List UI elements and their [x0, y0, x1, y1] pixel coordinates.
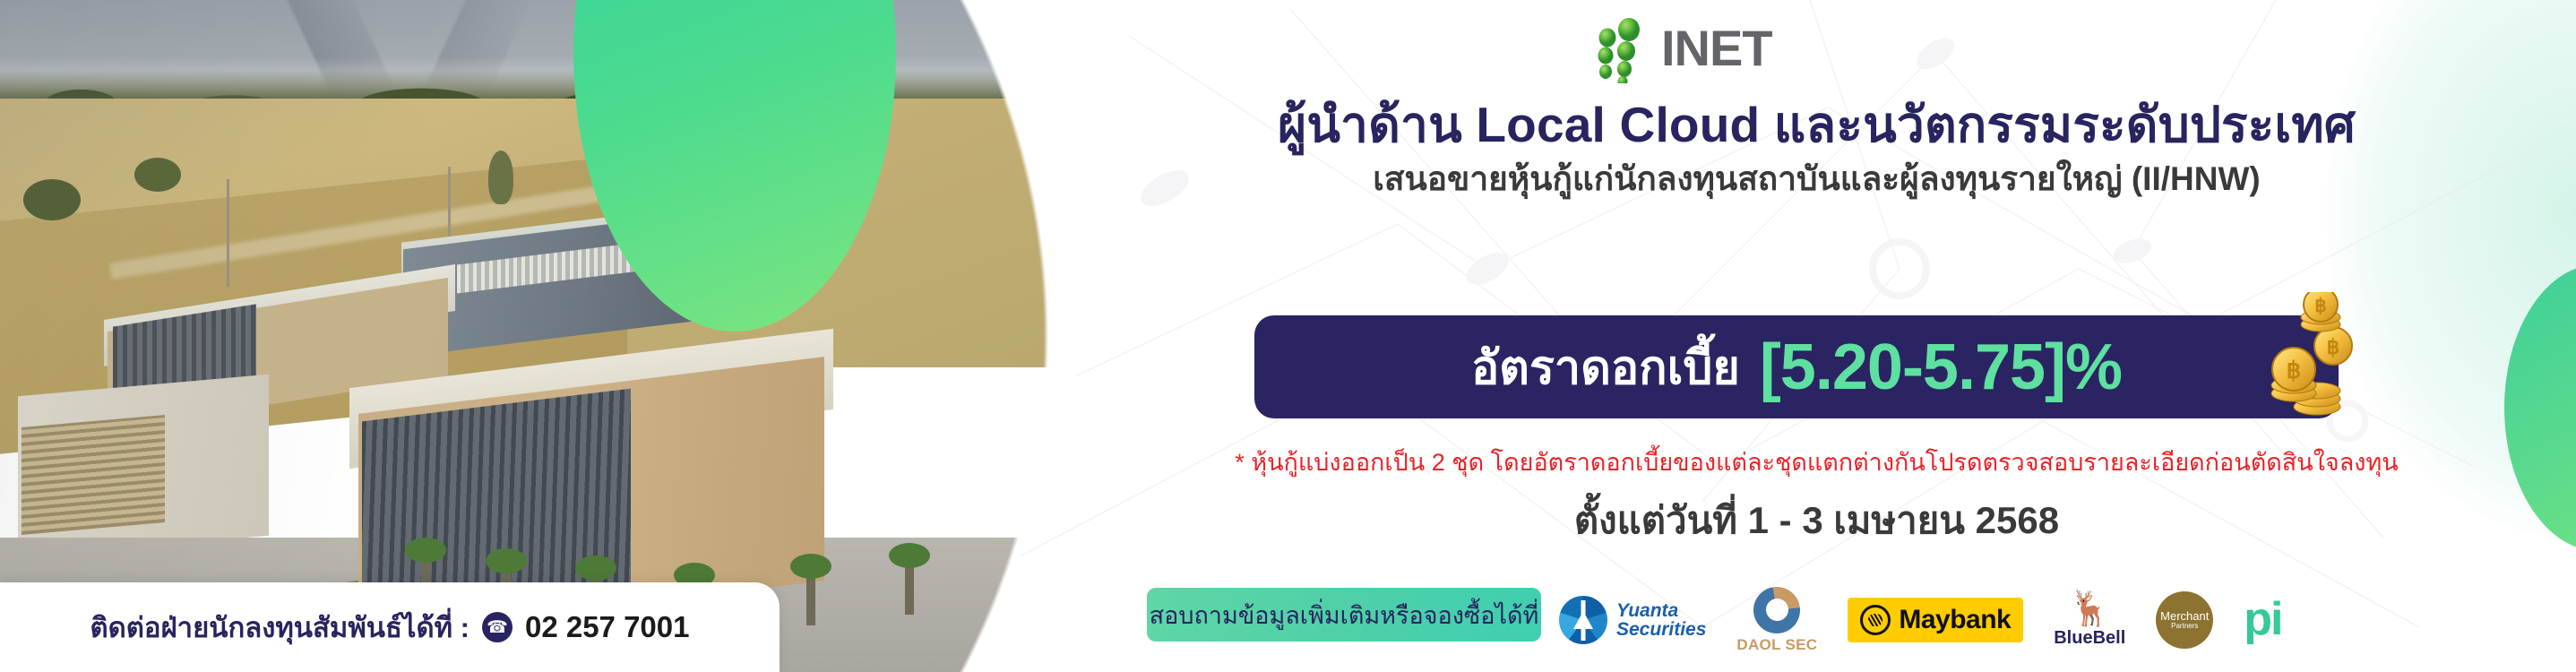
- contact-phone-number[interactable]: 02 257 7001: [525, 610, 690, 644]
- investor-relations-contact-card: ติดต่อฝ่ายนักลงทุนสัมพันธ์ได้ที่ : ☎ 02 …: [0, 582, 780, 672]
- broker-logo-bluebell[interactable]: 🦌 BlueBell: [2054, 592, 2125, 649]
- interest-rate-value: [5.20-5.75]%: [1760, 331, 2122, 404]
- offering-dates: ตั้งแต่วันที่ 1 - 3 เมษายน 2568: [1057, 491, 2576, 550]
- yuanta-line2: Securities: [1616, 620, 1706, 639]
- maybank-tiger-icon: [1860, 605, 1891, 635]
- inet-bubbles-icon: [1586, 13, 1656, 83]
- gold-coins-icon: ฿ ฿ ฿: [2258, 292, 2365, 426]
- contact-label: ติดต่อฝ่ายนักลงทุนสัมพันธ์ได้ที่ :: [90, 605, 470, 650]
- broker-logo-row: Yuanta Securities DAOL SEC Maybank 🦌 Blu…: [1559, 581, 2554, 659]
- data-center-photo: [0, 0, 1057, 672]
- bluebell-wordmark: BlueBell: [2054, 628, 2125, 649]
- svg-text:฿: ฿: [2327, 336, 2340, 358]
- yuanta-line1: Yuanta: [1616, 601, 1706, 620]
- content-column: INET ผู้นำด้าน Local Cloud และนวัตกรรมระ…: [1057, 0, 2576, 672]
- daol-mark-icon: [1753, 587, 1800, 633]
- interest-rate-label: อัตราดอกเบี้ย: [1471, 330, 1740, 404]
- interest-rate-box: อัตราดอกเบี้ย [5.20-5.75]% ฿: [1254, 315, 2339, 418]
- broker-logo-merchant-partners[interactable]: Merchant Partners: [2156, 591, 2213, 649]
- merchant-line1: Merchant: [2160, 610, 2209, 623]
- broker-logo-maybank[interactable]: Maybank: [1848, 598, 2023, 642]
- cta-button[interactable]: สอบถามข้อมูลเพิ่มเติมหรือจองซื้อได้ที่: [1147, 588, 1541, 642]
- photo-vignette: [0, 0, 1057, 672]
- pi-wordmark: pi: [2244, 601, 2281, 639]
- bluebell-deer-icon: 🦌: [2069, 592, 2111, 626]
- svg-text:฿: ฿: [2287, 358, 2302, 383]
- daol-line1: DAOL: [1736, 636, 1780, 653]
- broker-logo-daol[interactable]: DAOL SEC: [1736, 587, 1817, 654]
- inet-logo: INET: [1586, 13, 1908, 84]
- svg-text:฿: ฿: [2314, 295, 2326, 316]
- phone-icon: ☎: [482, 612, 513, 642]
- inet-bond-offering-banner: INET ผู้นำด้าน Local Cloud และนวัตกรรมระ…: [0, 0, 2576, 672]
- subheadline: เสนอขายหุ้นกู้แก่นักลงทุนสถาบันและผู้ลงท…: [1057, 152, 2576, 205]
- broker-logo-pi[interactable]: pi: [2244, 601, 2281, 639]
- broker-logo-yuanta[interactable]: Yuanta Securities: [1559, 596, 1706, 644]
- merchant-line2: Partners: [2171, 623, 2198, 630]
- daol-line2: SEC: [1785, 636, 1817, 653]
- inet-logo-text: INET: [1661, 23, 1772, 73]
- disclaimer-note: * หุ้นกู้แบ่งออกเป็น 2 ชุด โดยอัตราดอกเบ…: [1057, 443, 2576, 481]
- maybank-wordmark: Maybank: [1899, 605, 2011, 635]
- yuanta-mark-icon: [1559, 596, 1607, 644]
